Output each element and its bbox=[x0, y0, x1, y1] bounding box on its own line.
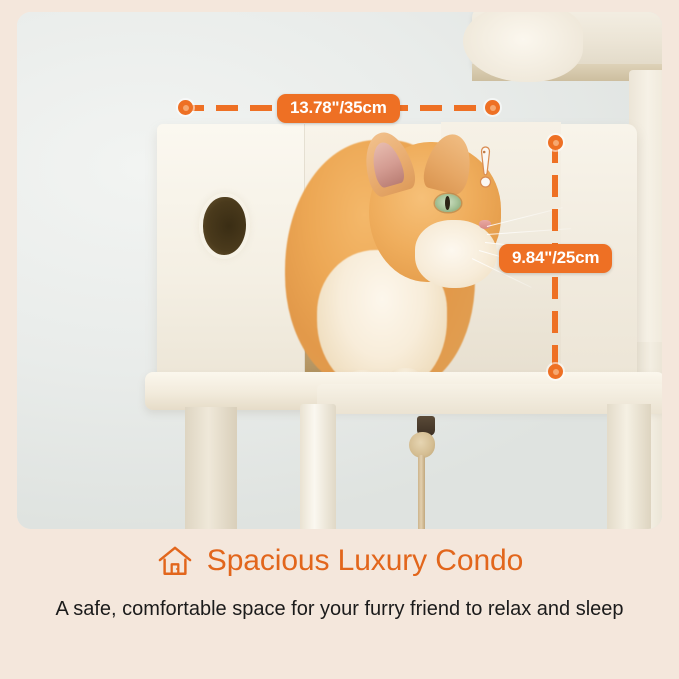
height-dimension-label: 9.84"/25cm bbox=[499, 244, 612, 273]
height-endpoint-bottom bbox=[548, 364, 563, 379]
cat-tree-post-center bbox=[300, 404, 336, 529]
exclamation-mark-icon bbox=[479, 146, 492, 188]
cat-tree-post-left bbox=[185, 407, 237, 529]
caption-title: Spacious Luxury Condo bbox=[207, 544, 523, 578]
rope-toy-cord bbox=[418, 455, 425, 529]
caption-block: Spacious Luxury Condo A safe, comfortabl… bbox=[0, 530, 679, 679]
width-endpoint-left bbox=[178, 100, 193, 115]
caption-subtitle: A safe, comfortable space for your furry… bbox=[30, 592, 650, 626]
photo-canvas: 13.78"/35cm 9.84"/25cm bbox=[17, 12, 662, 529]
product-feature-card: 13.78"/35cm 9.84"/25cm Spacious Luxury C… bbox=[0, 0, 679, 679]
product-photo: 13.78"/35cm 9.84"/25cm bbox=[17, 12, 662, 529]
width-dimension-label: 13.78"/35cm bbox=[277, 94, 400, 123]
home-icon bbox=[156, 544, 194, 578]
caption-title-row: Spacious Luxury Condo bbox=[156, 544, 523, 578]
condo-left-panel bbox=[157, 124, 305, 386]
cat-muzzle bbox=[415, 220, 497, 288]
height-endpoint-top bbox=[548, 135, 563, 150]
condo-peephole bbox=[203, 197, 246, 255]
cat-tree-post-right bbox=[607, 404, 651, 529]
cat-pupil bbox=[445, 196, 450, 210]
width-endpoint-right bbox=[485, 100, 500, 115]
